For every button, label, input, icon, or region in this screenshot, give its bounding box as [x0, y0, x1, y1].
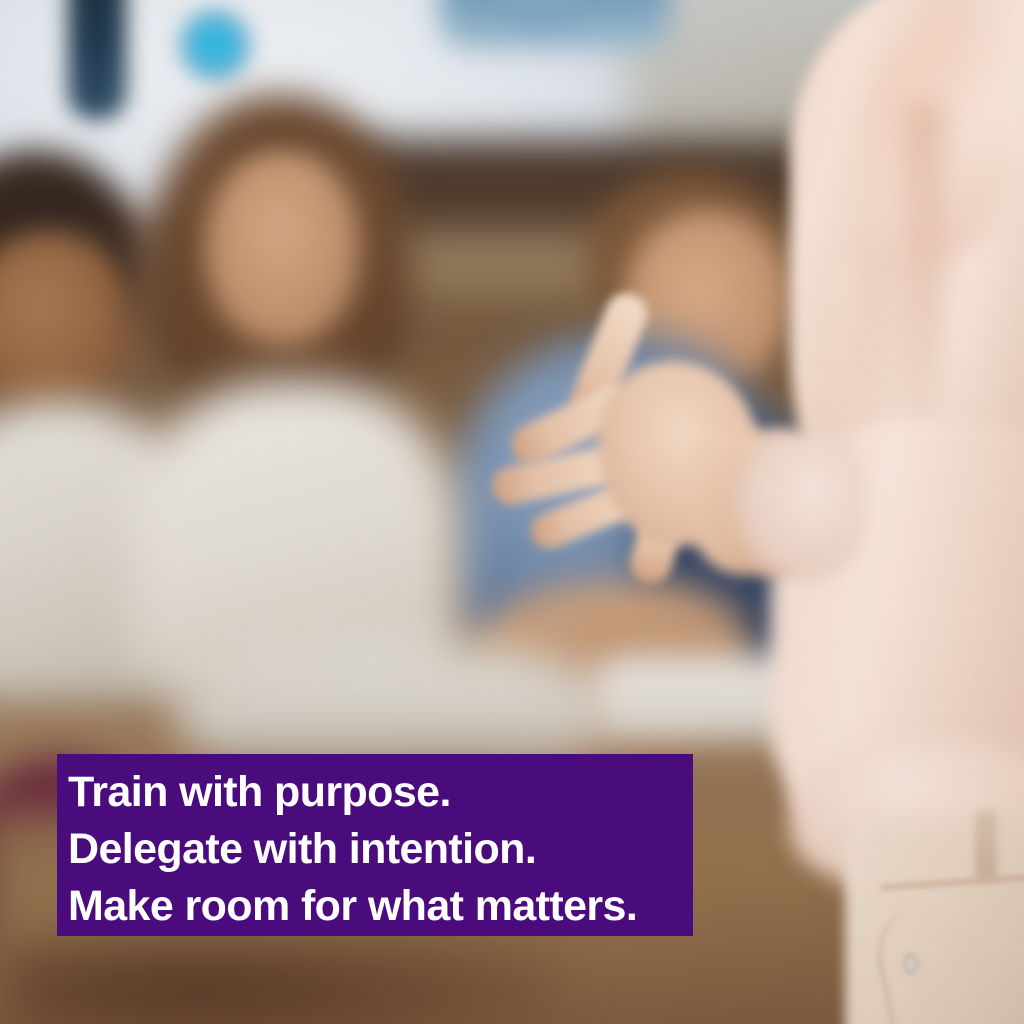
- trousers-belt-loop: [975, 810, 997, 880]
- caption-line-2: Delegate with intention.: [68, 821, 693, 878]
- promotional-graphic: Train with purpose. Delegate with intent…: [0, 0, 1024, 1024]
- caption-line-3: Make room for what matters.: [68, 878, 693, 935]
- caption-line-1: Train with purpose.: [68, 764, 693, 821]
- table-papers-left: [180, 640, 610, 760]
- presenter-sleeve-cuff: [735, 430, 865, 580]
- whiteboard-dark-bar: [68, 0, 126, 120]
- caption-overlay: Train with purpose. Delegate with intent…: [57, 754, 693, 936]
- trousers-button: [903, 953, 919, 975]
- seated-person-center-face: [205, 150, 360, 345]
- floor-shadow: [0, 940, 560, 1024]
- whiteboard-cyan-marker-dot: [176, 6, 254, 84]
